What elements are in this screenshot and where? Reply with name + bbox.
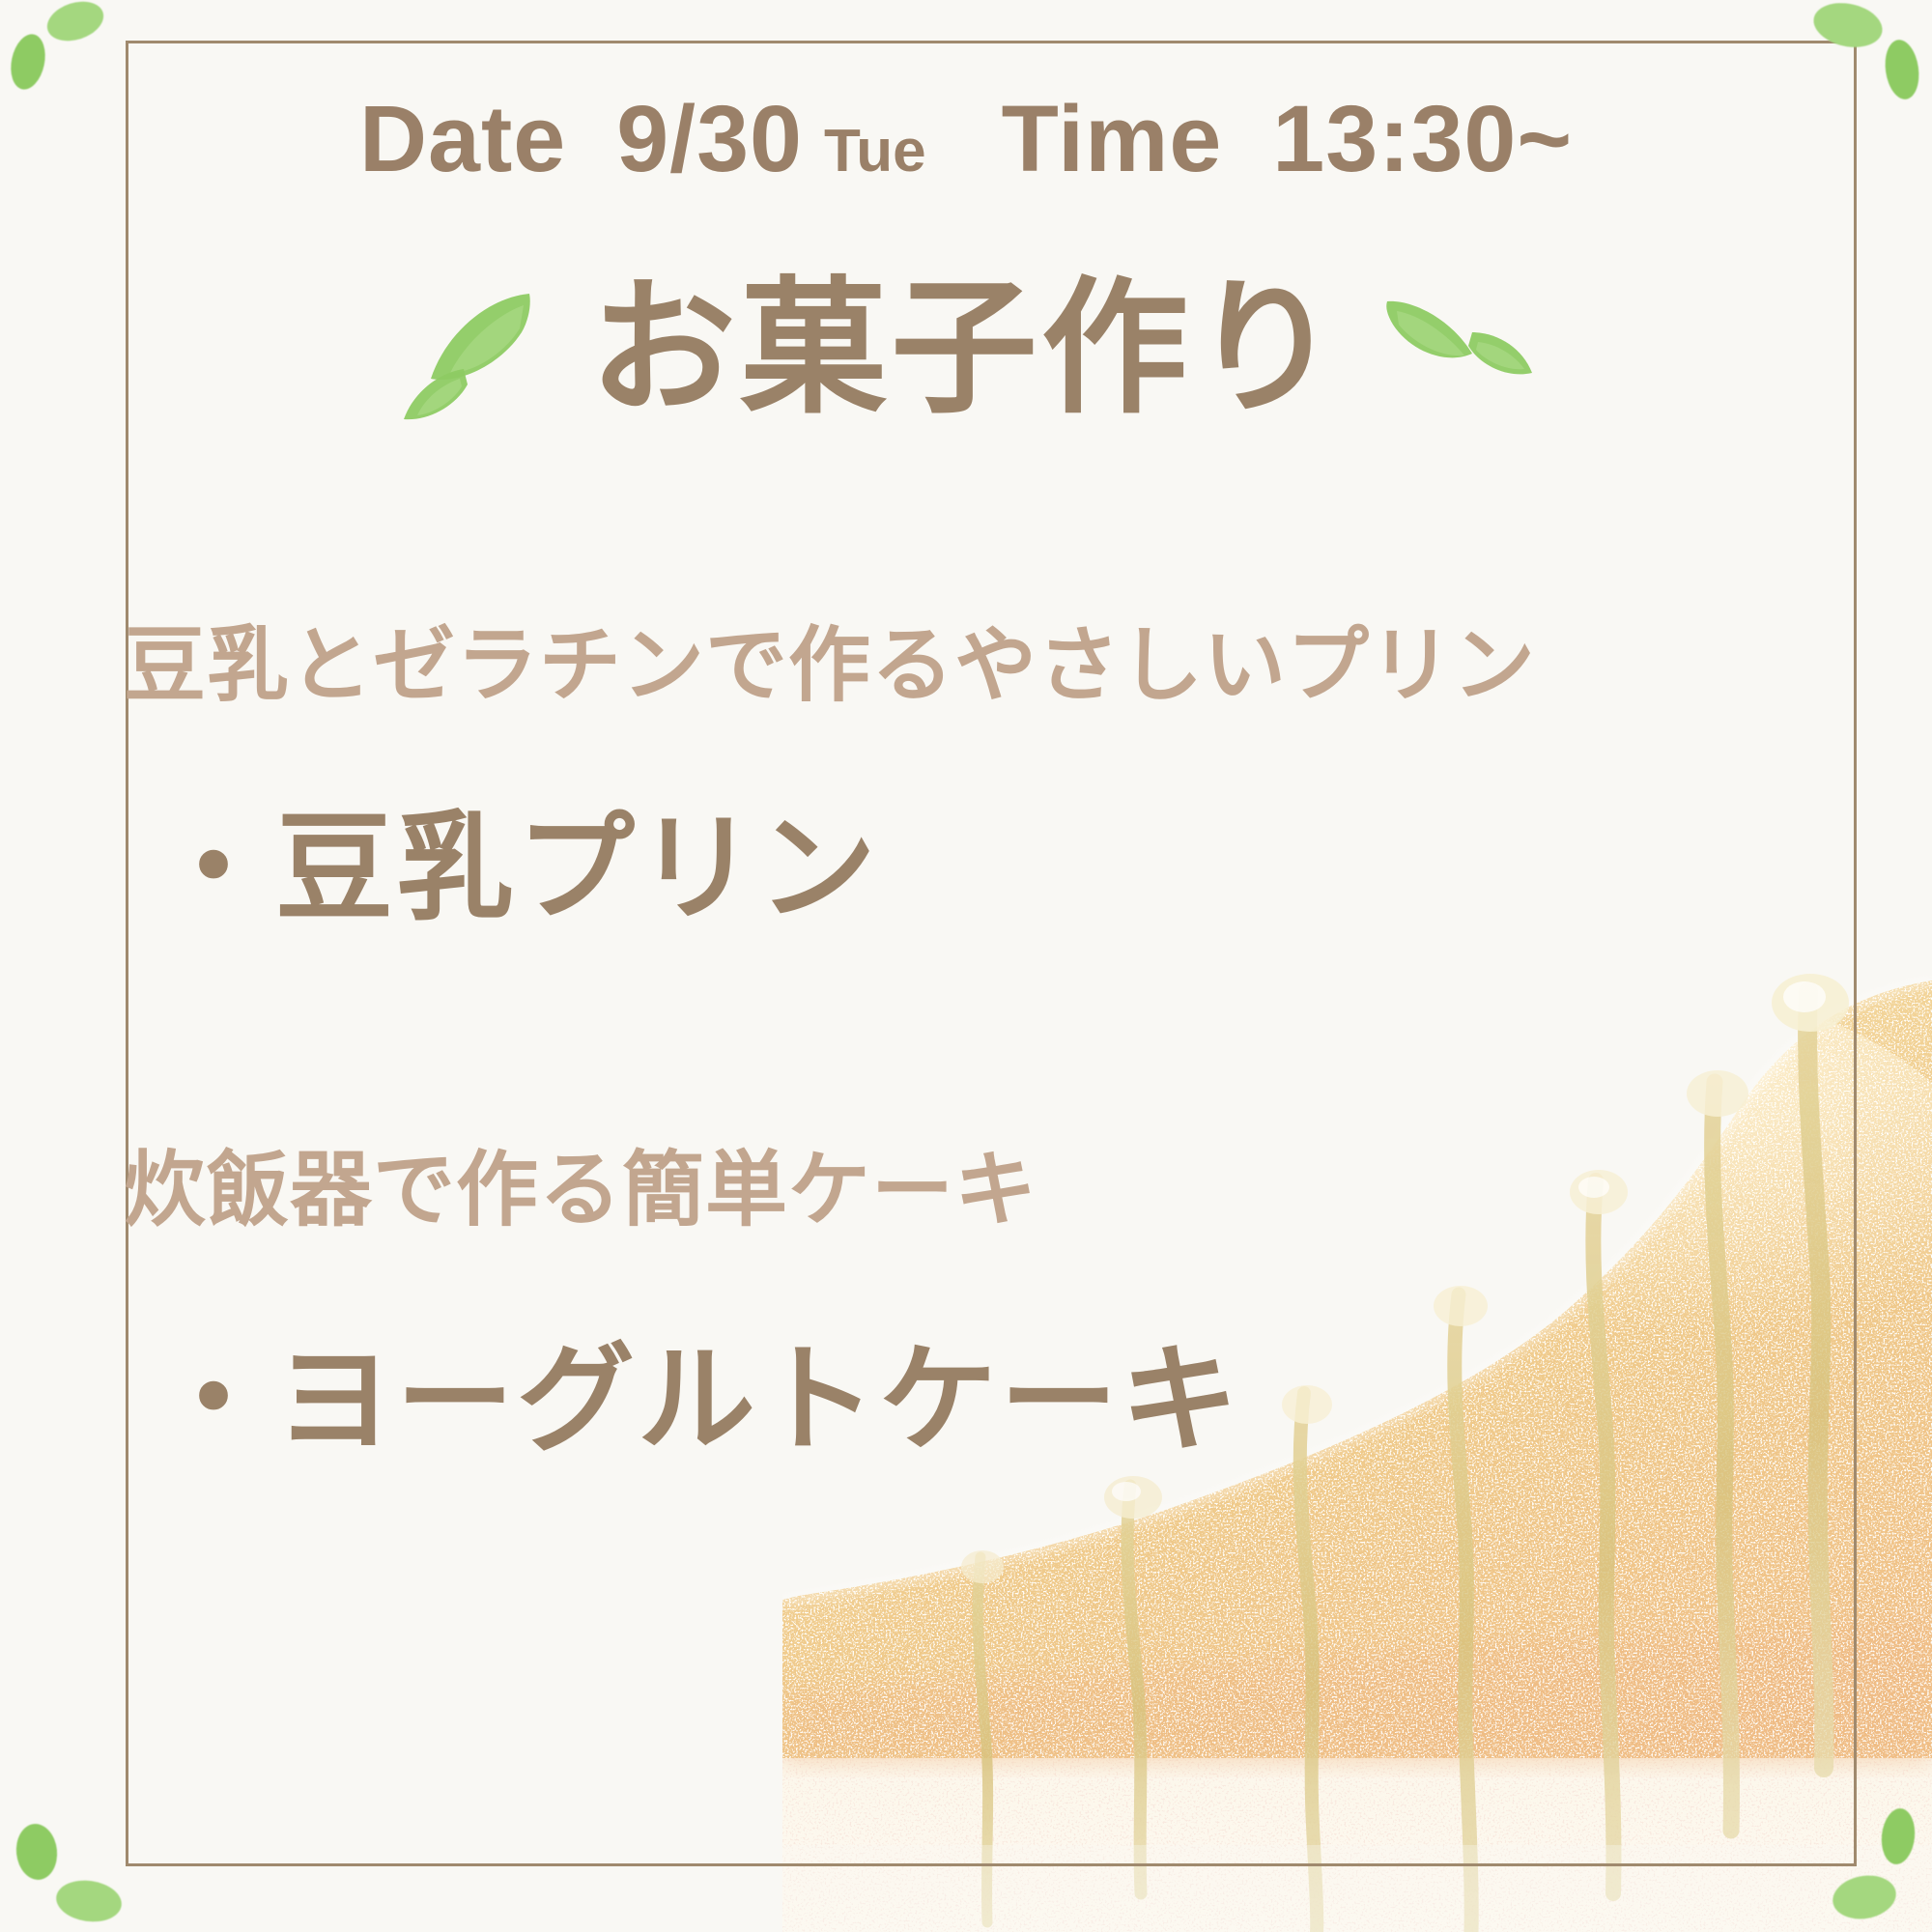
section-1-item: ・豆乳プリン [155,773,879,944]
title-leaf-right [1372,276,1536,421]
poster-canvas: Date9/30TueTime13:30~ お菓子作り 豆乳とゼラチンで作るやさ… [0,0,1932,1932]
date-value: 9/30 [616,86,803,191]
leaf-icon [6,31,49,93]
main-title-row: お菓子作り [0,275,1932,422]
leaf-icon [1830,1871,1900,1924]
time-label: Time [1002,86,1223,191]
leaf-icon [43,0,109,47]
section-1-subtitle: 豆乳とゼラチンで作るやさしいプリン [124,599,1536,718]
date-label: Date [359,86,566,191]
weekday-label: Tue [824,118,926,185]
section-2-subtitle: 炊飯器で作る簡単ケーキ [124,1123,1037,1242]
leaf-icon [14,1822,60,1882]
title-leaf-left [396,276,560,421]
time-value: 13:30~ [1272,86,1573,191]
date-time-bar: Date9/30TueTime13:30~ [0,85,1932,193]
page-title: お菓子作り [589,275,1343,422]
section-2-item: ・ヨーグルトケーキ [155,1304,1241,1475]
leaf-icon [1879,1806,1918,1865]
leaf-icon [53,1876,124,1925]
leaf-icon [1809,0,1887,53]
